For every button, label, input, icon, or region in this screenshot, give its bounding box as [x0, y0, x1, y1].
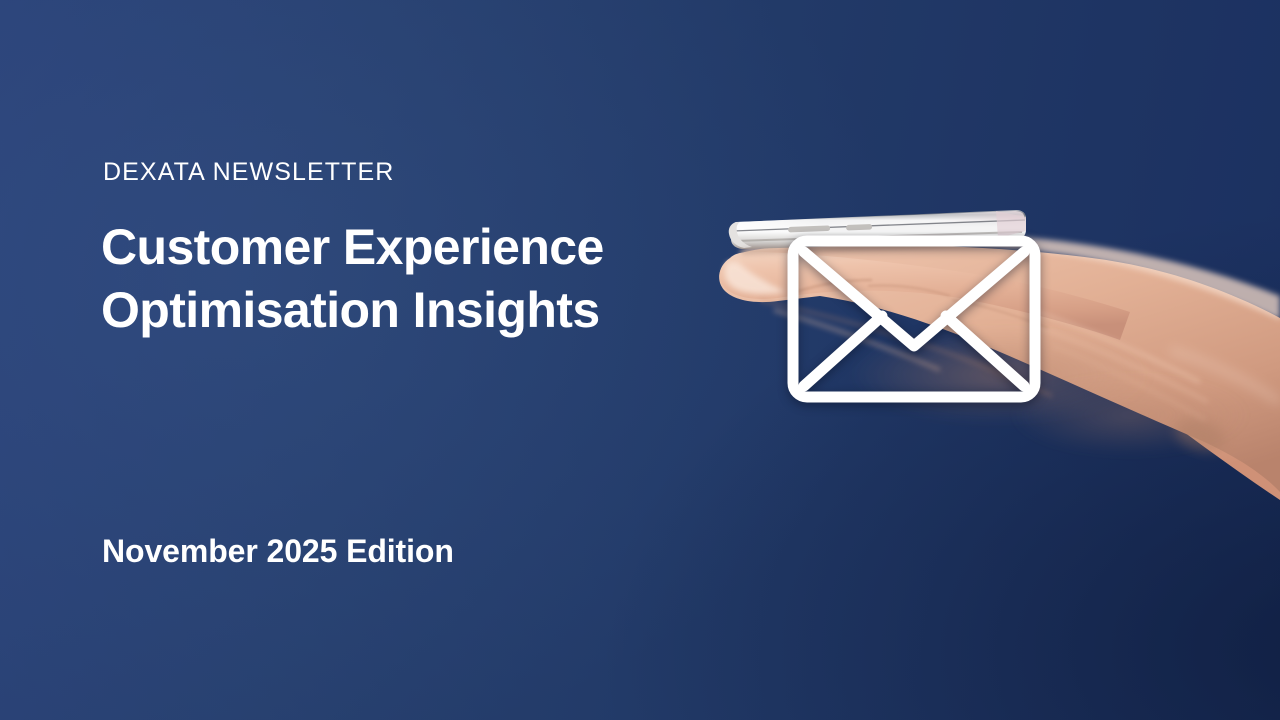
page-title: Customer Experience Optimisation Insight… [101, 216, 604, 342]
newsletter-cover-slide: DEXATA NEWSLETTER Customer Experience Op… [0, 0, 1280, 720]
envelope-icon [786, 234, 1042, 404]
eyebrow-label: DEXATA NEWSLETTER [103, 159, 394, 187]
edition-label: November 2025 Edition [102, 532, 454, 570]
